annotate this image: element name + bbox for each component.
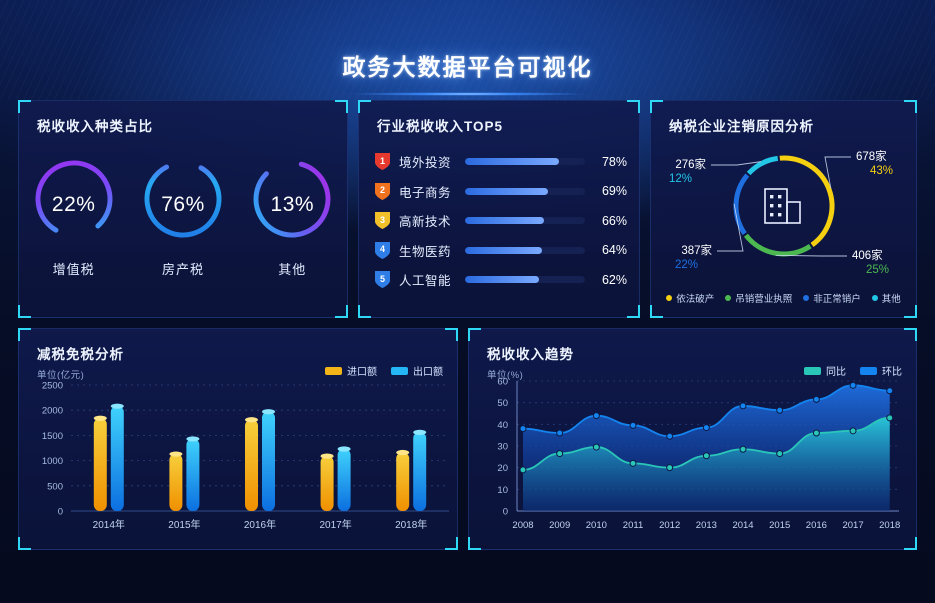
donut-chart[interactable]: 678家43%406家25%387家22%276家12%: [651, 131, 916, 286]
data-point[interactable]: [520, 426, 526, 432]
donut-label-count: 387家: [681, 243, 712, 257]
page-title: 政务大数据平台可视化: [0, 48, 935, 82]
x-axis-tick-label: 2016: [806, 520, 827, 531]
bar[interactable]: [169, 454, 182, 511]
rank-industry-name: 高新技术: [399, 211, 461, 230]
data-point[interactable]: [777, 451, 783, 457]
panel-tax-trend: 税收收入趋势 单位(%) 同比环比 0102030405060200820092…: [468, 328, 917, 550]
rank-progress-fill: [465, 247, 542, 254]
y-axis-tick-label: 0: [503, 507, 508, 518]
data-point[interactable]: [887, 388, 893, 394]
rank-number: 4: [375, 242, 390, 259]
bar[interactable]: [245, 420, 258, 511]
data-point[interactable]: [667, 433, 673, 439]
x-axis-tick-label: 2018年: [395, 518, 427, 531]
data-point[interactable]: [630, 422, 636, 428]
y-axis-tick-label: 30: [497, 442, 508, 453]
rank-number: 5: [375, 271, 390, 288]
donut-label-percent: 43%: [870, 165, 893, 177]
legend-color-dot: [666, 295, 672, 301]
y-axis-tick-label: 10: [497, 485, 508, 496]
x-axis-tick-label: 2013: [696, 520, 717, 531]
data-point[interactable]: [850, 428, 856, 434]
corner-bracket-icon: [904, 100, 917, 113]
x-axis-tick-label: 2016年: [244, 518, 276, 531]
data-point[interactable]: [557, 451, 563, 457]
data-point[interactable]: [703, 453, 709, 459]
donut-slice[interactable]: [746, 235, 810, 254]
gauge-label: 其他: [246, 259, 338, 278]
data-point[interactable]: [887, 415, 893, 421]
rank-industry-name: 电子商务: [399, 182, 461, 201]
legend-item[interactable]: 非正常销户: [803, 291, 861, 305]
bar-cap: [94, 416, 107, 421]
rank-percent: 62%: [593, 273, 627, 287]
rank-progress-track: [465, 188, 585, 195]
bar-cap: [111, 404, 124, 409]
panel-title: 税收收入种类占比: [37, 115, 153, 135]
bar-cap: [186, 436, 199, 441]
rank-progress-track: [465, 217, 585, 224]
rank-shield-icon: 1: [375, 153, 390, 170]
x-axis-tick-label: 2017: [842, 520, 863, 531]
corner-bracket-icon: [18, 305, 31, 318]
corner-bracket-icon: [18, 328, 31, 341]
gauge-value: 13%: [246, 193, 338, 217]
data-point[interactable]: [520, 467, 526, 473]
rank-percent: 69%: [593, 184, 627, 198]
legend-color-dot: [872, 295, 878, 301]
area-chart[interactable]: 0102030405060200820092010201120122013201…: [469, 371, 918, 551]
x-axis-tick-label: 2008: [512, 520, 533, 531]
data-point[interactable]: [630, 460, 636, 466]
y-axis-tick-label: 1500: [42, 431, 63, 442]
donut-label-percent: 25%: [866, 264, 889, 276]
rank-shield-icon: 2: [375, 183, 390, 200]
rank-percent: 78%: [593, 155, 627, 169]
rank-shield-icon: 5: [375, 271, 390, 288]
donut-label-count: 678家: [856, 149, 887, 163]
data-point[interactable]: [593, 444, 599, 450]
bar-cap: [245, 417, 258, 422]
y-axis-tick-label: 2500: [42, 381, 63, 392]
rank-number: 2: [375, 183, 390, 200]
y-axis-tick-label: 1000: [42, 456, 63, 467]
rank-progress-track: [465, 158, 585, 165]
corner-bracket-icon: [904, 328, 917, 341]
panel-industry-top5: 行业税收收入TOP5 1境外投资78%2电子商务69%3高新技术66%4生物医药…: [358, 100, 640, 318]
legend-label: 其他: [882, 291, 901, 305]
gauge-ring-2: 76%: [137, 153, 229, 245]
dashboard-header: 政务大数据平台可视化: [0, 0, 935, 100]
y-axis-tick-label: 50: [497, 398, 508, 409]
legend-label: 依法破产: [676, 291, 714, 305]
corner-bracket-icon: [468, 328, 481, 341]
rank-shield-icon: 3: [375, 212, 390, 229]
bar[interactable]: [338, 449, 351, 511]
rank-percent: 64%: [593, 243, 627, 257]
rank-progress-track: [465, 276, 585, 283]
data-point[interactable]: [813, 430, 819, 436]
bar[interactable]: [321, 456, 334, 511]
corner-bracket-icon: [627, 305, 640, 318]
x-axis-tick-label: 2014: [732, 520, 753, 531]
gauge-item[interactable]: 22% 增值税: [28, 153, 120, 278]
donut-slice[interactable]: [749, 158, 778, 173]
data-point[interactable]: [667, 465, 673, 471]
rank-industry-name: 境外投资: [399, 152, 461, 171]
x-axis-tick-label: 2015年: [168, 518, 200, 531]
corner-bracket-icon: [627, 100, 640, 113]
legend-color-dot: [803, 295, 809, 301]
legend-item[interactable]: 其他: [872, 291, 901, 305]
gauge-ring-3: 13%: [246, 153, 338, 245]
x-axis-tick-label: 2011: [623, 520, 643, 531]
rank-progress-fill: [465, 276, 539, 283]
legend-label: 吊销营业执照: [735, 291, 792, 305]
panel-title: 行业税收收入TOP5: [377, 115, 503, 135]
x-axis-tick-label: 2014年: [93, 518, 125, 531]
panel-title: 减税免税分析: [37, 343, 124, 363]
data-point[interactable]: [850, 382, 856, 388]
bar-cap: [169, 451, 182, 456]
x-axis-tick-label: 2017年: [319, 518, 351, 531]
rank-progress-track: [465, 247, 585, 254]
data-point[interactable]: [703, 425, 709, 431]
corner-bracket-icon: [650, 100, 663, 113]
donut-leader-line: [776, 255, 847, 256]
rank-shield-icon: 4: [375, 242, 390, 259]
rank-row[interactable]: 4生物医药64%: [375, 236, 627, 265]
rank-row[interactable]: 3高新技术66%: [375, 206, 627, 235]
rank-number: 3: [375, 212, 390, 229]
legend-item[interactable]: 吊销营业执照: [725, 291, 792, 305]
gauge-label: 房产税: [137, 259, 229, 278]
rank-industry-name: 人工智能: [399, 270, 461, 289]
panel-title: 税收收入趋势: [487, 343, 574, 363]
rank-row[interactable]: 1境外投资78%: [375, 147, 627, 176]
x-axis-tick-label: 2009: [549, 520, 570, 531]
corner-bracket-icon: [358, 100, 371, 113]
bar[interactable]: [111, 406, 124, 511]
bar-cap: [338, 446, 351, 451]
donut-leader-line: [711, 162, 761, 165]
bar-cap: [396, 450, 409, 455]
legend-label: 非正常销户: [813, 291, 861, 305]
rank-percent: 66%: [593, 214, 627, 228]
gauge-value: 22%: [28, 193, 120, 217]
x-axis-tick-label: 2010: [586, 520, 607, 531]
legend-item[interactable]: 依法破产: [666, 291, 714, 305]
bar-cap: [262, 409, 275, 414]
gauge-item[interactable]: 13% 其他: [246, 153, 338, 278]
donut-label-percent: 22%: [675, 259, 698, 271]
corner-bracket-icon: [358, 305, 371, 318]
donut-label-count: 276家: [675, 157, 706, 171]
corner-bracket-icon: [18, 100, 31, 113]
building-icon: [765, 189, 800, 223]
donut-legend: 依法破产吊销营业执照非正常销户其他: [651, 291, 916, 305]
rank-progress-fill: [465, 188, 548, 195]
y-axis-tick-label: 0: [58, 507, 63, 518]
donut-label-count: 406家: [852, 248, 883, 262]
y-axis-tick-label: 60: [497, 377, 508, 388]
corner-bracket-icon: [650, 305, 663, 318]
y-axis-tick-label: 20: [497, 463, 508, 474]
rank-row[interactable]: 2电子商务69%: [375, 177, 627, 206]
bar[interactable]: [262, 412, 275, 511]
corner-bracket-icon: [445, 328, 458, 341]
rank-list: 1境外投资78%2电子商务69%3高新技术66%4生物医药64%5人工智能62%: [375, 147, 627, 295]
gauge-item[interactable]: 76% 房产税: [137, 153, 229, 278]
data-point[interactable]: [593, 413, 599, 419]
rank-number: 1: [375, 153, 390, 170]
bar[interactable]: [186, 439, 199, 511]
data-point[interactable]: [740, 446, 746, 452]
gauge-label: 增值税: [28, 259, 120, 278]
bar-cap: [321, 453, 334, 458]
data-point[interactable]: [777, 407, 783, 413]
data-point[interactable]: [813, 396, 819, 402]
gauge-ring-1: 22%: [28, 153, 120, 245]
gauge-value: 76%: [137, 193, 229, 217]
rank-row[interactable]: 5人工智能62%: [375, 265, 627, 294]
data-point[interactable]: [557, 430, 563, 436]
x-axis-tick-label: 2018: [879, 520, 900, 531]
y-axis-tick-label: 500: [47, 481, 63, 492]
bar-chart[interactable]: 050010001500200025002014年2015年2016年2017年…: [19, 371, 459, 551]
dashboard-root: 政务大数据平台可视化 税收收入种类占比: [0, 0, 935, 603]
x-axis-tick-label: 2012: [659, 520, 680, 531]
rank-industry-name: 生物医药: [399, 241, 461, 260]
panel-cancel-reasons: 纳税企业注销原因分析 678家43%406家25%387家22%276家12% …: [650, 100, 917, 318]
bar[interactable]: [94, 418, 107, 511]
gauge-row: 22% 增值税: [19, 153, 347, 278]
bar[interactable]: [396, 453, 409, 511]
bar-cap: [413, 430, 426, 435]
panel-tax-share: 税收收入种类占比 22%: [18, 100, 348, 318]
corner-bracket-icon: [335, 305, 348, 318]
panel-tax-relief: 减税免税分析 单位(亿元) 进口额出口额 0500100015002000250…: [18, 328, 458, 550]
data-point[interactable]: [740, 403, 746, 409]
y-axis-tick-label: 2000: [42, 406, 63, 417]
corner-bracket-icon: [904, 305, 917, 318]
y-axis-tick-label: 40: [497, 420, 508, 431]
x-axis-tick-label: 2015: [769, 520, 790, 531]
legend-color-dot: [725, 295, 731, 301]
rank-progress-fill: [465, 217, 544, 224]
rank-progress-fill: [465, 158, 559, 165]
corner-bracket-icon: [335, 100, 348, 113]
donut-label-percent: 12%: [669, 173, 692, 185]
bar[interactable]: [413, 432, 426, 511]
